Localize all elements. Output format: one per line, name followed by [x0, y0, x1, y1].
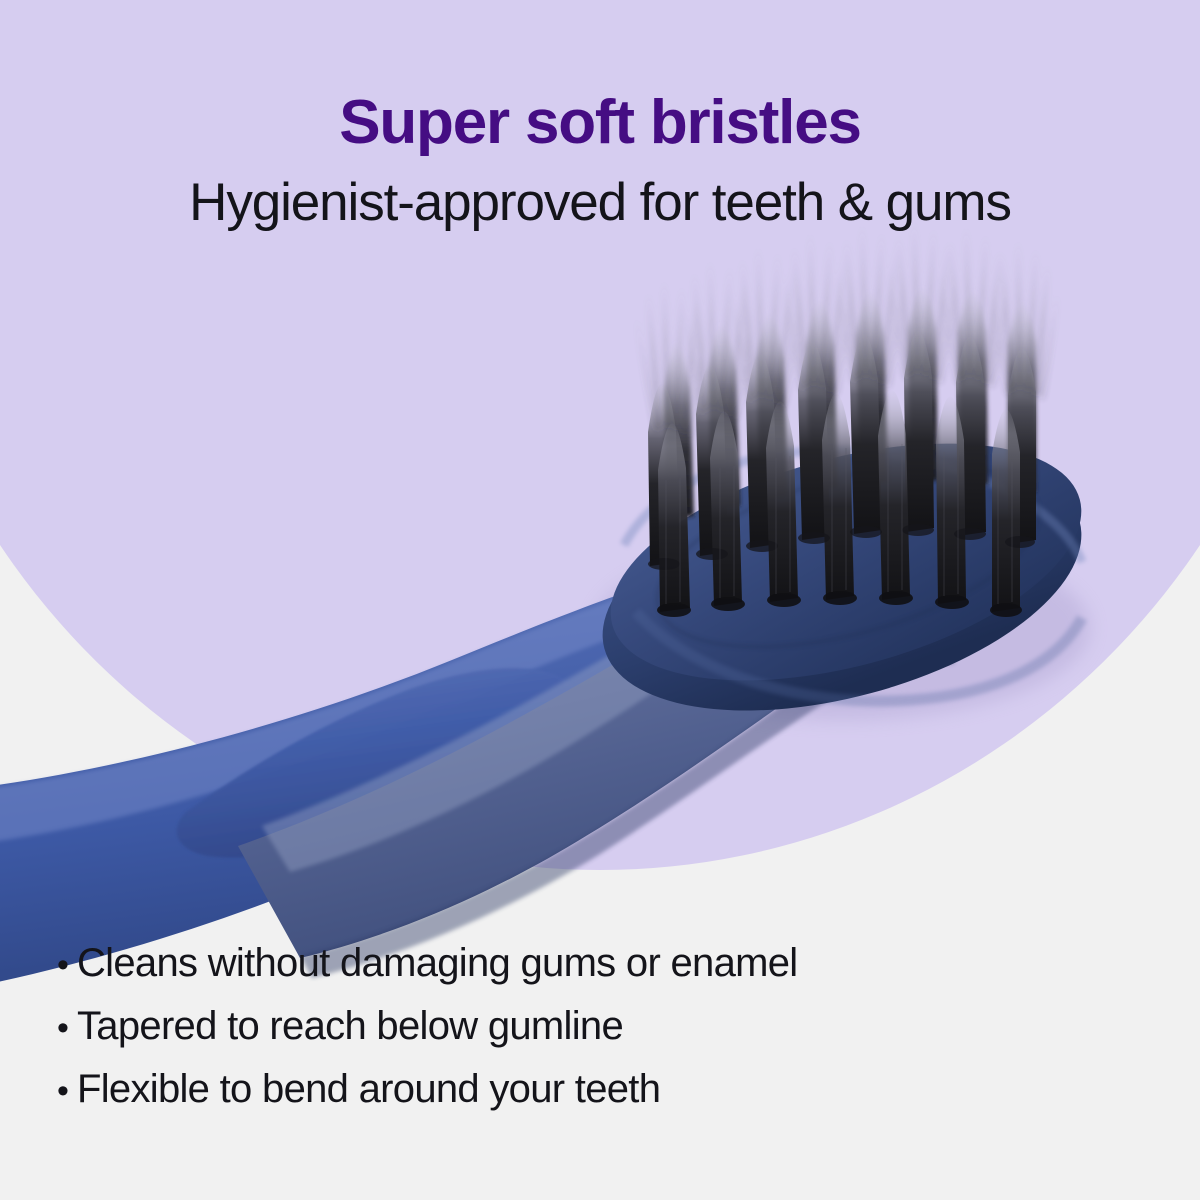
list-item: • Tapered to reach below gumline: [57, 1004, 1117, 1049]
list-item-label: Tapered to reach below gumline: [77, 1004, 623, 1049]
list-item-label: Cleans without damaging gums or enamel: [77, 941, 797, 986]
list-item: • Flexible to bend around your teeth: [57, 1067, 1117, 1112]
bullet-dot-icon: •: [57, 1011, 77, 1045]
product-feature-infographic: Super soft bristles Hygienist-approved f…: [0, 0, 1200, 1200]
page-subtitle: Hygienist-approved for teeth & gums: [0, 176, 1200, 229]
list-item: • Cleans without damaging gums or enamel: [57, 941, 1117, 986]
feature-bullet-list: • Cleans without damaging gums or enamel…: [57, 941, 1117, 1130]
bullet-dot-icon: •: [57, 1074, 77, 1108]
header-text-block: Super soft bristles Hygienist-approved f…: [0, 92, 1200, 229]
list-item-label: Flexible to bend around your teeth: [77, 1067, 660, 1112]
page-title: Super soft bristles: [0, 92, 1200, 154]
bullet-dot-icon: •: [57, 948, 77, 982]
